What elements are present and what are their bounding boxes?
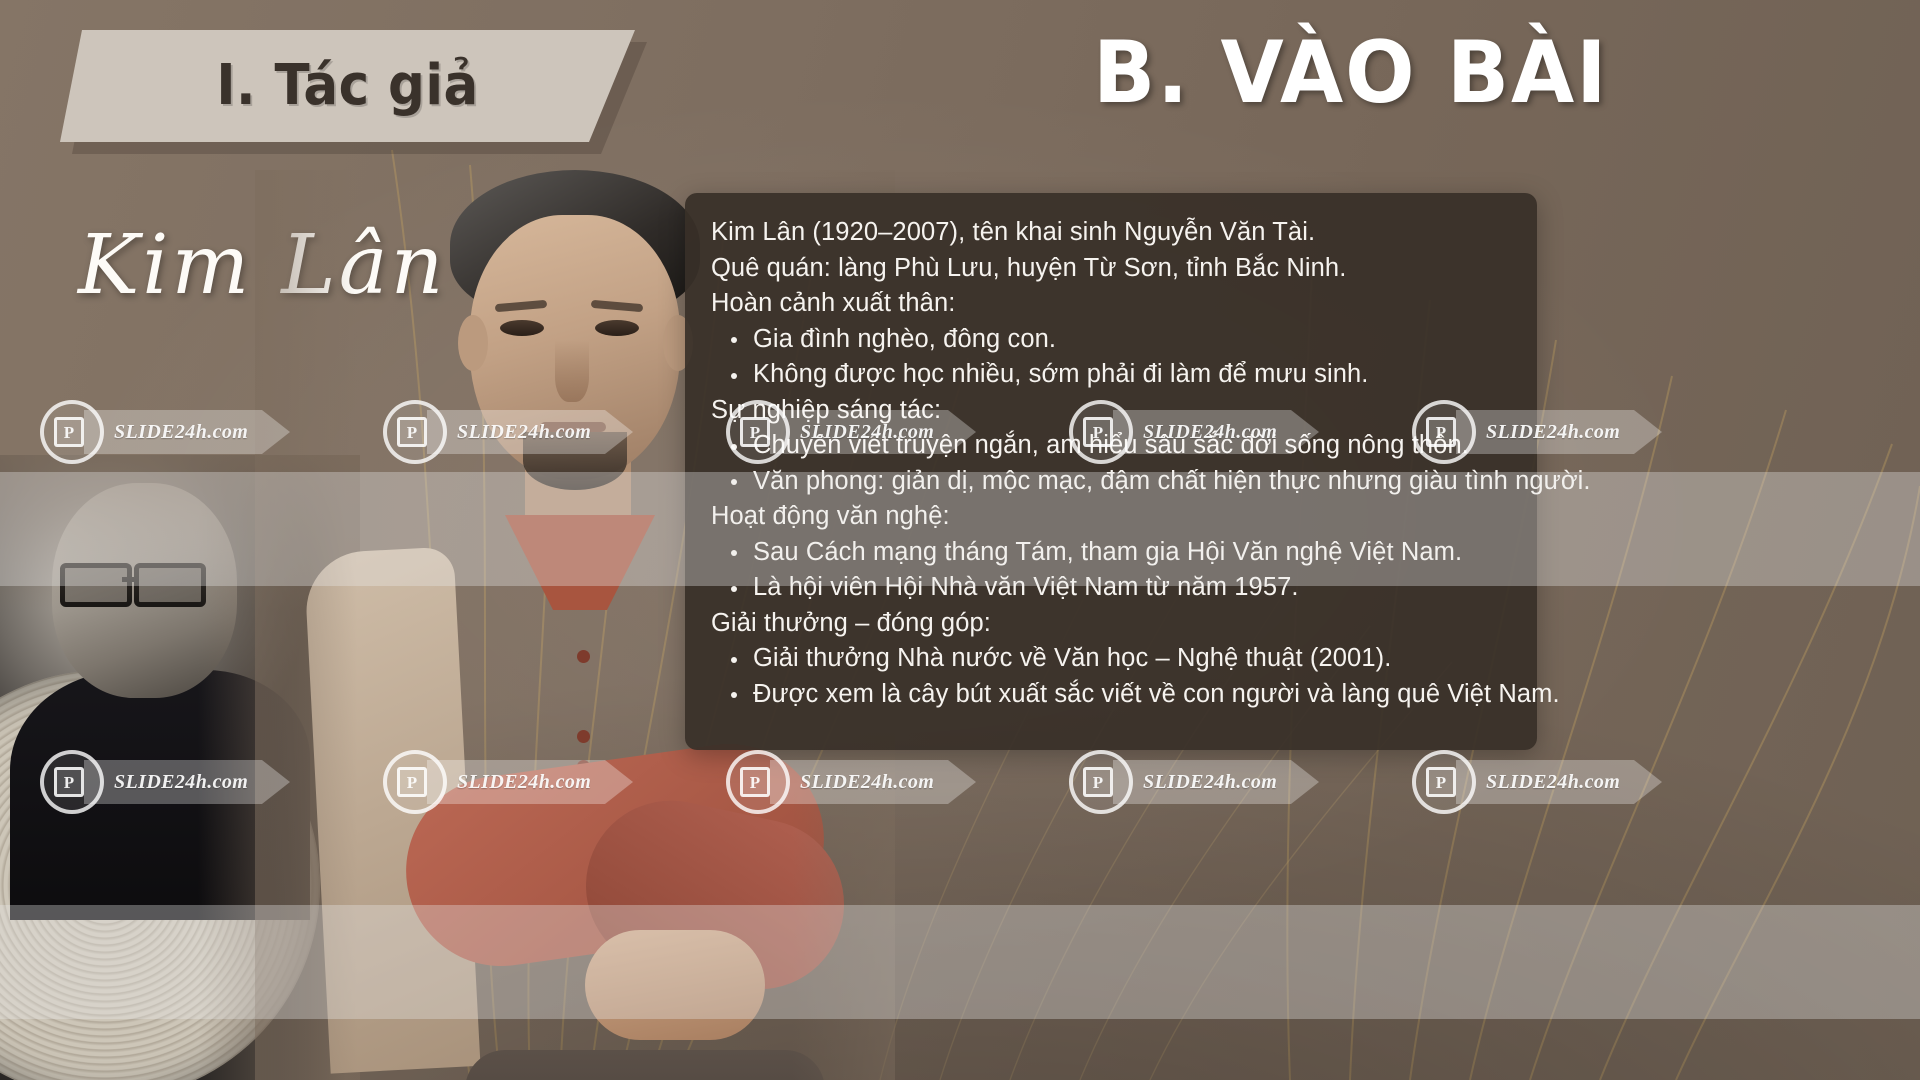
- watermark-slide24h: PSLIDE24h.com: [383, 400, 633, 464]
- watermark-label: SLIDE24h.com: [800, 421, 934, 444]
- watermark-slide24h: PSLIDE24h.com: [1069, 750, 1319, 814]
- watermark-tag: SLIDE24h.com: [770, 760, 976, 804]
- watermark-label: SLIDE24h.com: [1143, 771, 1277, 794]
- content-line: Giải thưởng – đóng góp:: [711, 606, 1511, 642]
- powerpoint-badge-icon: P: [397, 417, 427, 447]
- powerpoint-badge-icon: P: [397, 767, 427, 797]
- watermark-tag: SLIDE24h.com: [1456, 410, 1662, 454]
- slide-main-title: B. VÀO BÀI: [1093, 28, 1587, 118]
- content-bullet-item: Không được học nhiều, sớm phải đi làm để…: [711, 357, 1511, 393]
- watermark-label: SLIDE24h.com: [114, 771, 248, 794]
- watermark-slide24h: PSLIDE24h.com: [1412, 750, 1662, 814]
- watermark-slide24h: PSLIDE24h.com: [726, 750, 976, 814]
- powerpoint-badge-icon: P: [1426, 417, 1456, 447]
- powerpoint-badge-icon: P: [54, 417, 84, 447]
- content-bullet-item: Giải thưởng Nhà nước về Văn học – Nghệ t…: [711, 641, 1511, 677]
- watermark-slide24h: PSLIDE24h.com: [1069, 400, 1319, 464]
- powerpoint-badge-icon: P: [1426, 767, 1456, 797]
- watermark-label: SLIDE24h.com: [1486, 771, 1620, 794]
- content-line: Quê quán: làng Phù Lưu, huyện Từ Sơn, tỉ…: [711, 251, 1511, 287]
- watermark-tag: SLIDE24h.com: [1113, 760, 1319, 804]
- watermark-band: [0, 472, 1920, 586]
- watermark-label: SLIDE24h.com: [1486, 421, 1620, 444]
- powerpoint-badge-icon: P: [1083, 417, 1113, 447]
- content-bullet-item: Được xem là cây bút xuất sắc viết về con…: [711, 677, 1511, 713]
- watermark-slide24h: PSLIDE24h.com: [383, 750, 633, 814]
- section-banner-label: I. Tác giả: [216, 58, 478, 114]
- watermark-tag: SLIDE24h.com: [1456, 760, 1662, 804]
- watermark-tag: SLIDE24h.com: [770, 410, 976, 454]
- section-banner: I. Tác giả: [60, 30, 635, 142]
- watermark-slide24h: PSLIDE24h.com: [40, 400, 290, 464]
- watermark-label: SLIDE24h.com: [457, 771, 591, 794]
- watermark-label: SLIDE24h.com: [114, 421, 248, 444]
- watermark-slide24h: PSLIDE24h.com: [1412, 400, 1662, 464]
- watermark-tag: SLIDE24h.com: [427, 410, 633, 454]
- watermark-slide24h: PSLIDE24h.com: [40, 750, 290, 814]
- watermark-label: SLIDE24h.com: [800, 771, 934, 794]
- watermark-tag: SLIDE24h.com: [427, 760, 633, 804]
- watermark-slide24h: PSLIDE24h.com: [726, 400, 976, 464]
- content-line: Kim Lân (1920–2007), tên khai sinh Nguyễ…: [711, 215, 1511, 251]
- powerpoint-badge-icon: P: [54, 767, 84, 797]
- watermark-band: [0, 905, 1920, 1019]
- powerpoint-badge-icon: P: [740, 417, 770, 447]
- powerpoint-badge-icon: P: [1083, 767, 1113, 797]
- watermark-label: SLIDE24h.com: [457, 421, 591, 444]
- watermark-tag: SLIDE24h.com: [1113, 410, 1319, 454]
- content-bullet-item: Gia đình nghèo, đông con.: [711, 322, 1511, 358]
- watermark-tag: SLIDE24h.com: [84, 410, 290, 454]
- watermark-tag: SLIDE24h.com: [84, 760, 290, 804]
- content-line: Hoàn cảnh xuất thân:: [711, 286, 1511, 322]
- watermark-label: SLIDE24h.com: [1143, 421, 1277, 444]
- powerpoint-badge-icon: P: [740, 767, 770, 797]
- presentation-slide: I. Tác giả B. VÀO BÀI Kim Lân Kim Lân (1…: [0, 0, 1920, 1080]
